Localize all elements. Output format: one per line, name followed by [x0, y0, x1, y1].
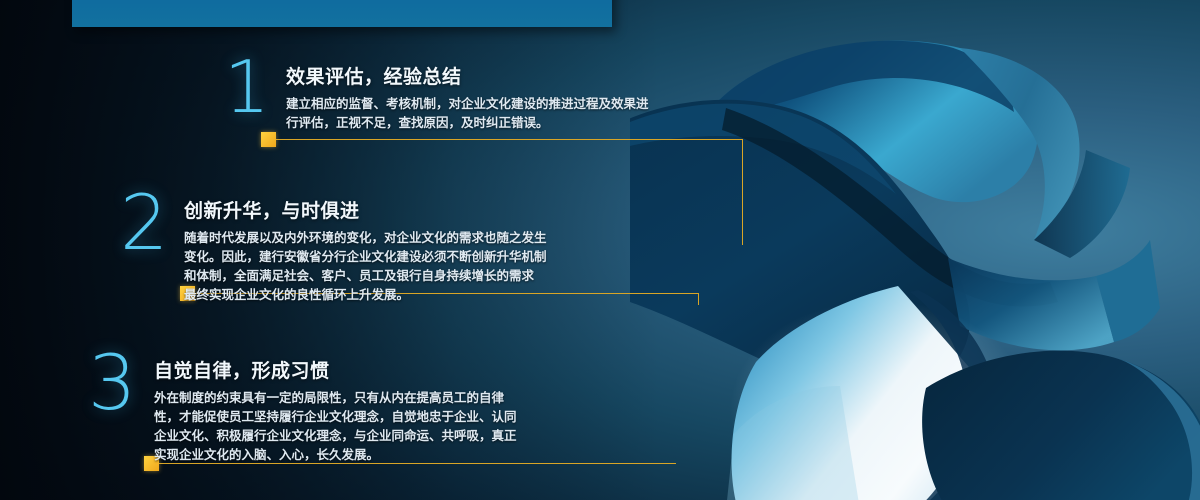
item-number: 3 [88, 352, 146, 414]
item-description: 随着时代发展以及内外环境的变化，对企业文化的需求也随之发生 变化。因此，建行安徽… [184, 229, 547, 305]
connector-marker [261, 132, 276, 147]
item-description-line: 外在制度的约束具有一定的局限性，只有从内在提高员工的自律 [154, 389, 517, 408]
item-title: 自觉自律，形成习惯 [154, 356, 517, 383]
list-item-1: 1 效果评估，经验总结 建立相应的监督、考核机制，对企业文化建设的推进过程及效果… [224, 58, 649, 133]
item-description-line: 建立相应的监督、考核机制，对企业文化建设的推进过程及效果进 [286, 95, 649, 114]
item-number: 2 [120, 192, 178, 254]
item-description-line: 和体制，全面满足社会、客户、员工及银行自身持续增长的需求 [184, 267, 547, 286]
item-body: 创新升华，与时俱进 随着时代发展以及内外环境的变化，对企业文化的需求也随之发生 … [178, 192, 547, 305]
item-description-line: 实现企业文化的入脑、入心，长久发展。 [154, 446, 517, 465]
abstract-3d-artwork [630, 0, 1200, 500]
item-description: 建立相应的监督、考核机制，对企业文化建设的推进过程及效果进 行评估，正视不足，查… [286, 95, 649, 133]
connector-vertical [698, 293, 699, 305]
item-title: 效果评估，经验总结 [286, 62, 649, 89]
slide-canvas: 形成文化自律、文化固化模式 1 效果评估，经验总结 建立相应的监督、考核机制，对… [0, 0, 1200, 500]
item-body: 自觉自律，形成习惯 外在制度的约束具有一定的局限性，只有从内在提高员工的自律 性… [146, 352, 517, 465]
connector-vertical [742, 139, 743, 245]
item-description-line: 性，才能促使员工坚持履行企业文化理念，自觉地忠于企业、认同 [154, 408, 517, 427]
item-title: 创新升华，与时俱进 [184, 196, 547, 223]
item-description-line: 企业文化、积极履行企业文化理念，与企业同命运、共呼吸，真正 [154, 427, 517, 446]
item-body: 效果评估，经验总结 建立相应的监督、考核机制，对企业文化建设的推进过程及效果进 … [282, 58, 649, 133]
item-description-line: 最终实现企业文化的良性循环上升发展。 [184, 286, 547, 305]
item-description: 外在制度的约束具有一定的局限性，只有从内在提高员工的自律 性，才能促使员工坚持履… [154, 389, 517, 465]
banner-title: 形成文化自律、文化固化模式 [72, 0, 337, 27]
header-banner: 形成文化自律、文化固化模式 [72, 0, 612, 27]
item-description-line: 随着时代发展以及内外环境的变化，对企业文化的需求也随之发生 [184, 229, 547, 248]
list-item-2: 2 创新升华，与时俱进 随着时代发展以及内外环境的变化，对企业文化的需求也随之发… [120, 192, 547, 305]
connector-horizontal [262, 139, 742, 140]
item-description-line: 变化。因此，建行安徽省分行企业文化建设必须不断创新升华机制 [184, 248, 547, 267]
item-number: 1 [224, 58, 282, 117]
item-description-line: 行评估，正视不足，查找原因，及时纠正错误。 [286, 114, 649, 133]
list-item-3: 3 自觉自律，形成习惯 外在制度的约束具有一定的局限性，只有从内在提高员工的自律… [88, 352, 517, 465]
